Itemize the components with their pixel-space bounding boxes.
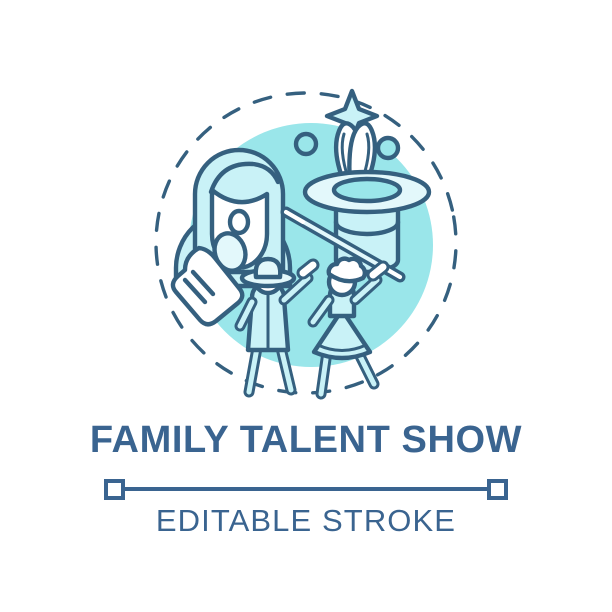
page-title: FAMILY TALENT SHOW: [0, 418, 612, 462]
divider: [0, 476, 612, 502]
subtitle: EDITABLE STROKE: [0, 503, 612, 539]
singer-mouth: [230, 211, 248, 233]
bubble-circle-right: [378, 138, 398, 158]
concept-icon-card: FAMILY TALENT SHOW EDITABLE STROKE: [0, 0, 612, 612]
right-square-handle: [489, 481, 506, 498]
left-square-handle: [106, 481, 123, 498]
boy-hat-crown: [256, 259, 281, 277]
hat-opening: [334, 179, 400, 201]
bubble-circle-left: [296, 134, 316, 154]
